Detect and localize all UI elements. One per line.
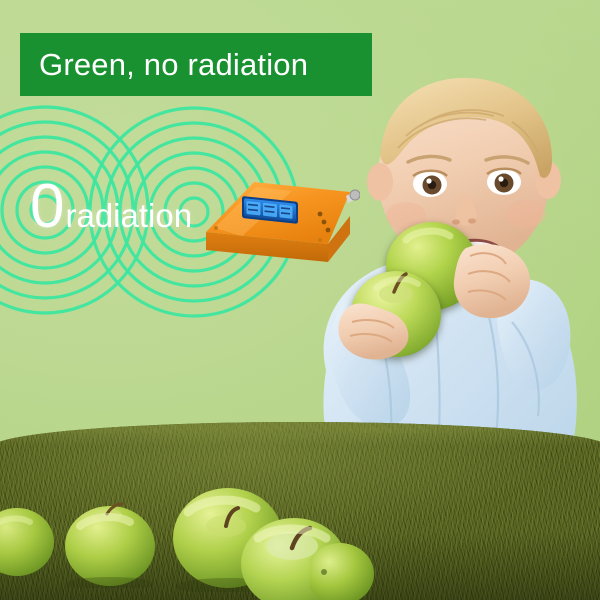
ground-apple (310, 536, 382, 600)
ground-apple (0, 500, 56, 578)
promo-image-canvas: 0 radiation Green, no radiation (0, 0, 600, 600)
zero-radiation-digit: 0 (30, 176, 63, 238)
zero-radiation-label: 0 radiation (30, 176, 192, 238)
headline-text: Green, no radiation (20, 47, 308, 83)
signal-booster-device (200, 160, 360, 275)
headline-banner: Green, no radiation (20, 33, 372, 96)
zero-radiation-word: radiation (65, 199, 192, 232)
grass-fringe (0, 422, 600, 433)
ground-apple (62, 498, 158, 588)
